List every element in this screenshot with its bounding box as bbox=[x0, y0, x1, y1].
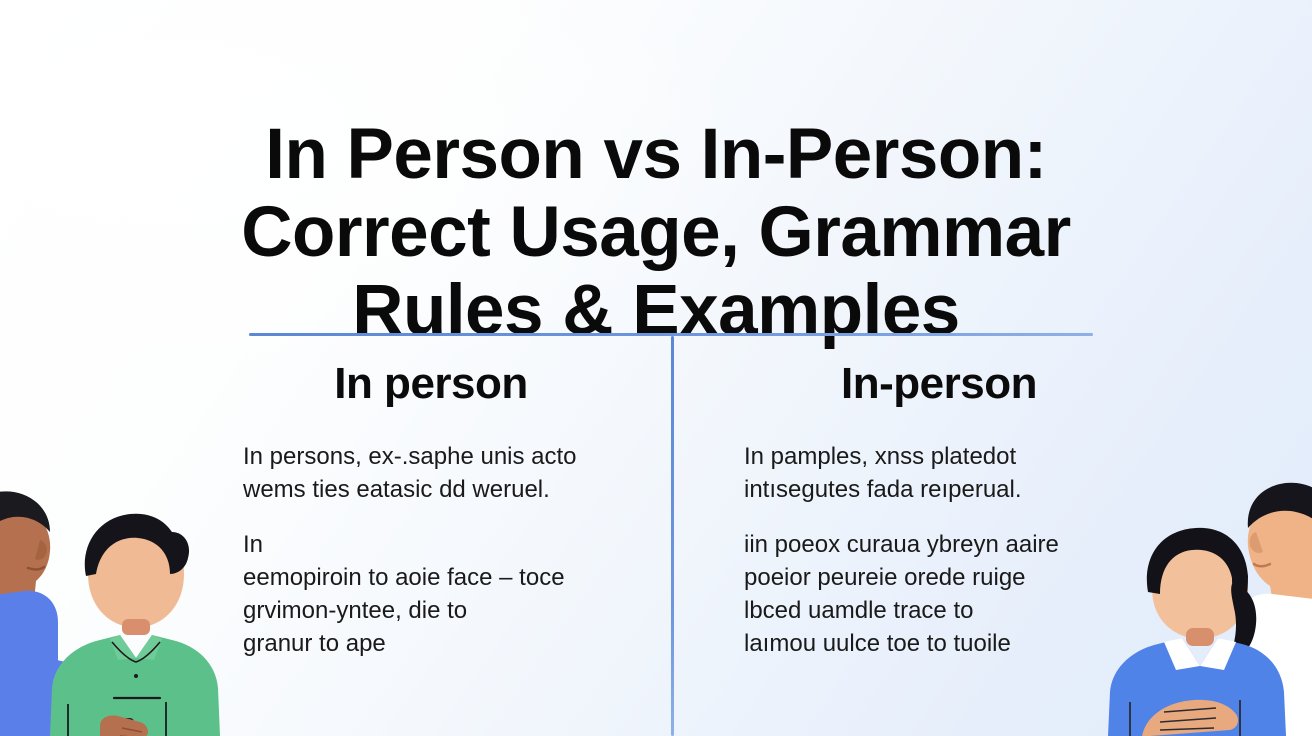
polo-button bbox=[134, 674, 138, 678]
green-polo-neck bbox=[122, 619, 150, 635]
column-paragraph: In persons, ex-.saphe unis acto wems tie… bbox=[243, 440, 653, 506]
column-heading-in-person-hyphenated: In-person bbox=[744, 358, 1154, 410]
column-paragraph: In eemopiroin to aoie face – toce grvimo… bbox=[243, 528, 653, 660]
column-in-person-hyphenated: In-person In pamples, xnss platedot intı… bbox=[744, 358, 1154, 660]
illustration-left bbox=[0, 436, 220, 736]
column-paragraph: In pamples, xnss platedot intısegutes fa… bbox=[744, 440, 1154, 506]
column-heading-in-person: In person bbox=[243, 358, 653, 410]
two-people-talking-left-svg bbox=[0, 436, 220, 736]
page-title: In Person vs In-Person: Correct Usage, G… bbox=[196, 116, 1116, 350]
column-in-person: In person In persons, ex-.saphe unis act… bbox=[243, 358, 653, 660]
woman-neck bbox=[1186, 628, 1214, 646]
column-paragraph: iin poeox curaua ybreyn aaire poeior peu… bbox=[744, 528, 1154, 660]
vertical-divider bbox=[671, 336, 674, 736]
figure-green-polo bbox=[50, 514, 220, 736]
infographic-canvas: In Person vs In-Person: Correct Usage, G… bbox=[0, 0, 1312, 736]
